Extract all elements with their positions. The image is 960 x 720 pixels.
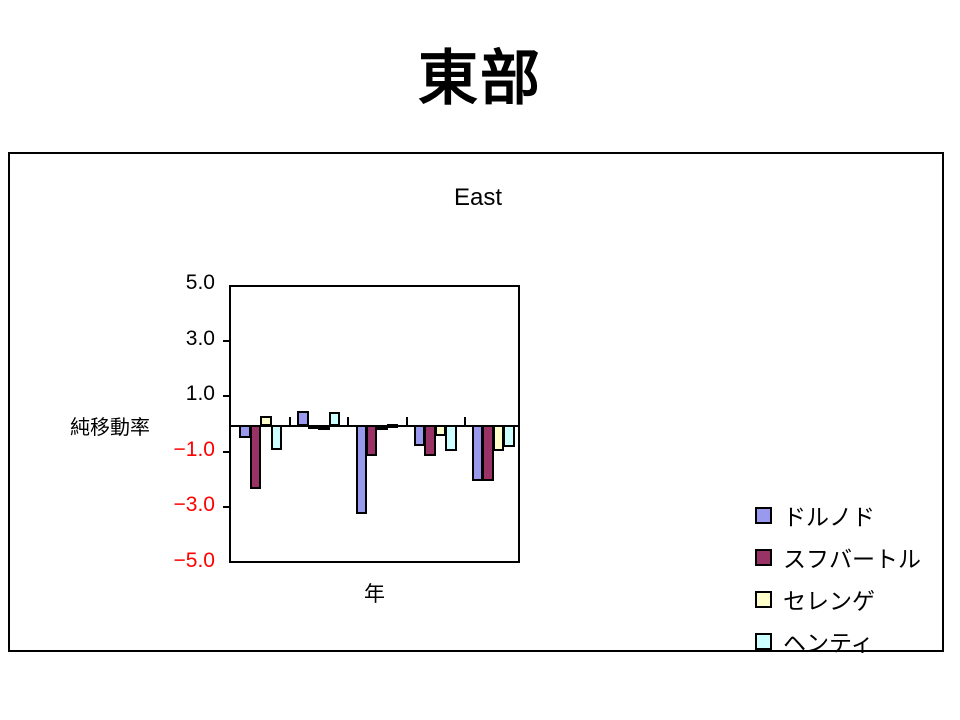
chart-legend: ドルノドスフバートルセレンゲヘンティ	[755, 494, 921, 662]
x-axis-tickmark	[289, 417, 291, 425]
legend-item[interactable]: ヘンティ	[755, 620, 921, 662]
chart-object-frame[interactable]: East 純移動率 年 5.03.01.0−1.0−3.0−5.0 198019…	[8, 152, 944, 652]
x-axis-tickmark	[347, 417, 349, 425]
chart-title: East	[10, 184, 946, 212]
y-axis-tickmark	[223, 451, 231, 453]
bar	[377, 426, 388, 430]
legend-item[interactable]: スフバートル	[755, 536, 921, 578]
bar	[239, 425, 250, 438]
y-axis-tick-label: −3.0	[155, 493, 215, 517]
bar	[308, 425, 319, 429]
bar	[472, 425, 483, 481]
x-axis-tickmark	[406, 417, 408, 425]
legend-swatch-icon	[755, 549, 772, 566]
legend-swatch-icon	[755, 633, 772, 650]
bar	[482, 425, 493, 481]
legend-label: セレンゲ	[783, 582, 875, 616]
y-axis-tick-label: 5.0	[155, 271, 215, 295]
slide-title: 東部	[0, 48, 960, 111]
y-axis-tick-label: 1.0	[155, 382, 215, 406]
legend-label: スフバートル	[783, 540, 921, 574]
bar	[414, 425, 425, 446]
bar	[250, 425, 261, 489]
bar	[318, 426, 329, 430]
x-axis-tickmark	[464, 417, 466, 425]
y-axis-tickmark	[223, 395, 231, 397]
y-axis-tick-label: 3.0	[155, 327, 215, 351]
bar	[503, 425, 514, 447]
bar	[435, 425, 446, 436]
y-axis-tickmark	[223, 506, 231, 508]
bar	[493, 425, 504, 451]
legend-item[interactable]: セレンゲ	[755, 578, 921, 620]
legend-label: ヘンティ	[783, 624, 874, 658]
y-axis-tick-label: −5.0	[155, 549, 215, 573]
bar	[387, 424, 398, 428]
legend-item[interactable]: ドルノド	[755, 494, 921, 536]
bar	[260, 416, 271, 426]
bar	[329, 412, 340, 426]
legend-swatch-icon	[755, 591, 772, 608]
bar	[356, 425, 367, 514]
y-axis-tickmark	[223, 340, 231, 342]
x-axis-title: 年	[229, 578, 520, 608]
legend-label: ドルノド	[783, 498, 875, 532]
bar	[424, 425, 435, 456]
bar	[445, 425, 456, 451]
slide-canvas: 東部 East 純移動率 年 5.03.01.0−1.0−3.0−5.0 198…	[0, 0, 960, 720]
y-axis-tick-label: −1.0	[155, 438, 215, 462]
bar	[297, 411, 308, 426]
legend-swatch-icon	[755, 507, 772, 524]
bar	[271, 425, 282, 450]
plot-area	[229, 285, 520, 563]
bar	[366, 425, 377, 456]
y-axis-title: 純移動率	[46, 411, 174, 440]
